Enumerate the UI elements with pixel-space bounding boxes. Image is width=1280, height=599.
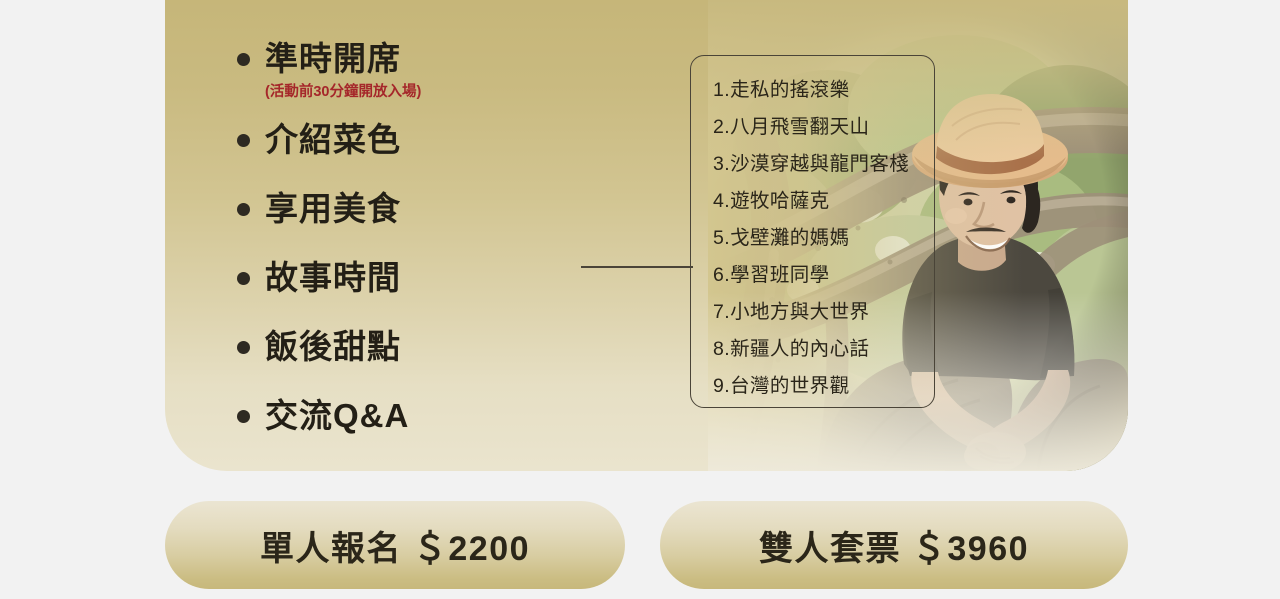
story-topic-item: 3.沙漠穿越與龍門客棧	[713, 146, 934, 183]
bullet-dot-icon	[237, 134, 250, 147]
agenda-item-3: 故事時間	[237, 255, 537, 301]
agenda-item-1: 介紹菜色	[237, 117, 537, 163]
story-topic-item: 6.學習班同學	[713, 257, 934, 294]
story-topic-item: 8.新疆人的內心話	[713, 331, 934, 368]
agenda-item-label: 準時開席	[265, 36, 401, 82]
bullet-dot-icon	[237, 272, 250, 285]
main-content-card: 準時開席 (活動前30分鐘開放入場) 介紹菜色 享用美食 故事時間 飯後甜點 交…	[165, 0, 1128, 471]
bullet-dot-icon	[237, 341, 250, 354]
agenda-item-label: 故事時間	[265, 255, 401, 301]
agenda-item-4: 飯後甜點	[237, 324, 537, 370]
bullet-dot-icon	[237, 203, 250, 216]
story-topic-item: 5.戈壁灘的媽媽	[713, 220, 934, 257]
agenda-item-0: 準時開席	[237, 36, 537, 82]
story-topic-item: 2.八月飛雪翻天山	[713, 109, 934, 146]
agenda-item-label: 享用美食	[265, 186, 401, 232]
story-topic-item: 9.台灣的世界觀	[713, 368, 934, 405]
story-topic-item: 4.遊牧哈薩克	[713, 183, 934, 220]
single-ticket-button[interactable]: 單人報名 ＄2200	[165, 501, 625, 589]
double-ticket-label: 雙人套票 ＄3960	[759, 521, 1029, 570]
agenda-item-2: 享用美食	[237, 186, 537, 232]
bullet-dot-icon	[237, 53, 250, 66]
bullet-dot-icon	[237, 410, 250, 423]
single-ticket-label: 單人報名 ＄2200	[260, 521, 530, 570]
double-ticket-button[interactable]: 雙人套票 ＄3960	[660, 501, 1128, 589]
agenda-item-5: 交流Q&A	[237, 393, 537, 439]
agenda-list: 準時開席 (活動前30分鐘開放入場) 介紹菜色 享用美食 故事時間 飯後甜點 交…	[237, 36, 537, 439]
agenda-item-label: 飯後甜點	[265, 324, 401, 370]
story-topic-item: 1.走私的搖滾樂	[713, 72, 934, 109]
connector-line	[581, 266, 693, 268]
agenda-item-note: (活動前30分鐘開放入場)	[265, 83, 537, 101]
story-topics-box: 1.走私的搖滾樂 2.八月飛雪翻天山 3.沙漠穿越與龍門客棧 4.遊牧哈薩克 5…	[690, 55, 935, 408]
story-topic-item: 7.小地方與大世界	[713, 294, 934, 331]
agenda-item-label: 交流Q&A	[265, 393, 409, 439]
agenda-item-label: 介紹菜色	[265, 117, 401, 163]
